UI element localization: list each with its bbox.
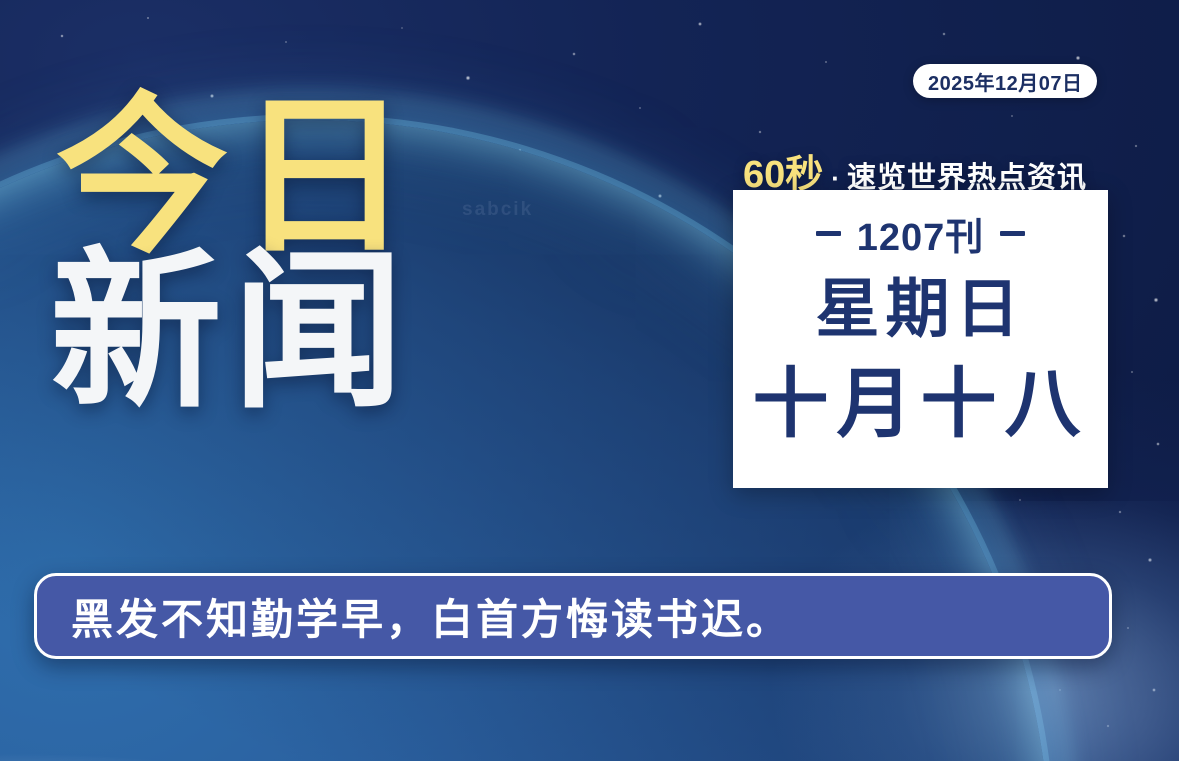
quote-banner: 黑发不知勤学早，白首方悔读书迟。 xyxy=(34,573,1112,659)
quote-text: 黑发不知勤学早，白首方悔读书迟。 xyxy=(71,586,791,647)
issue-number: 1207刊 xyxy=(857,206,985,261)
dash-right-icon xyxy=(1000,231,1025,236)
weekday-label: 星期日 xyxy=(816,277,1026,341)
dash-left-icon xyxy=(816,231,841,236)
lunar-date-label: 十月十八 xyxy=(753,367,1089,443)
news-poster: sabcik 今日 新闻 2025年12月07日 60秒 · 速览世界热点资讯 … xyxy=(0,0,1179,761)
issue-info-card: 1207刊 星期日 十月十八 xyxy=(733,190,1108,488)
date-badge: 2025年12月07日 xyxy=(913,64,1097,98)
headline-line-today: 今日 xyxy=(56,96,420,259)
issue-number-row: 1207刊 xyxy=(816,206,1026,261)
page-title: 今日 新闻 xyxy=(56,96,420,415)
headline-line-news: 新闻 xyxy=(50,251,420,414)
